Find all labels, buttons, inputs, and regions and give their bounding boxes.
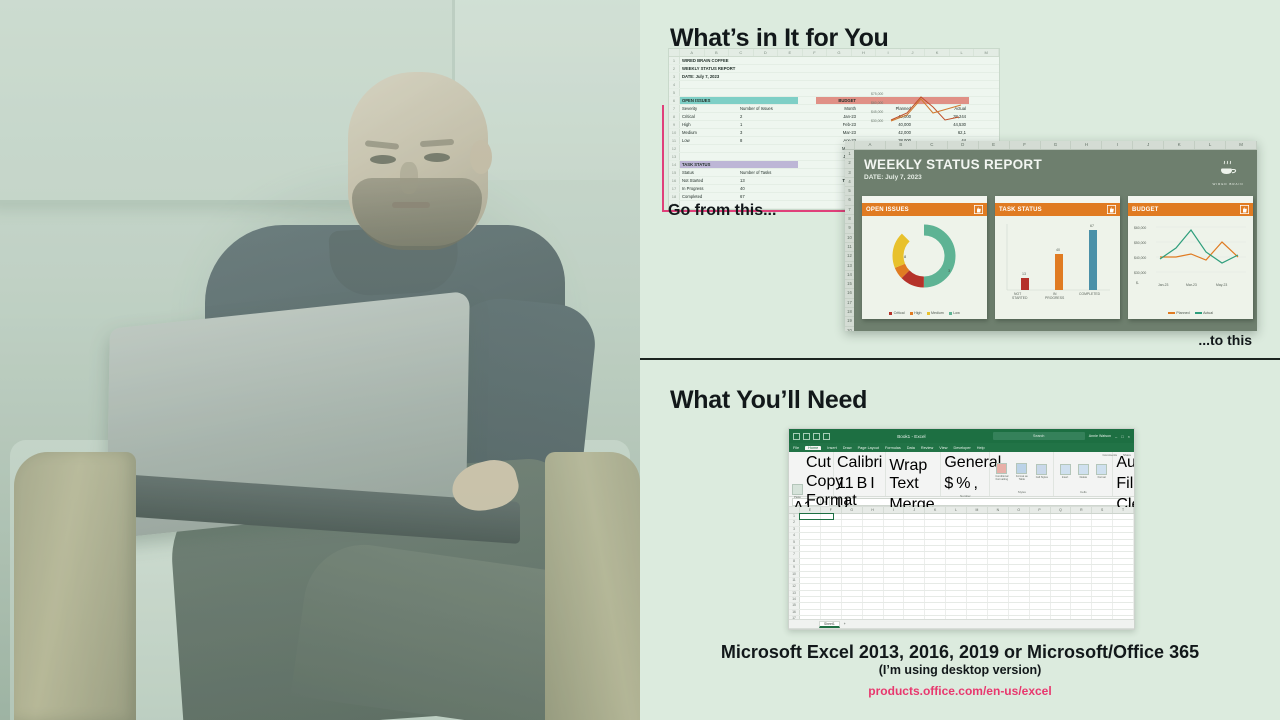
grid-cell[interactable] [946,616,967,619]
grid-cell[interactable] [863,546,884,551]
grid-cell[interactable] [863,603,884,608]
xl-col-m[interactable]: M [967,507,988,513]
grid-cell[interactable] [1009,584,1030,589]
grid-cell[interactable] [863,533,884,538]
grid-cell[interactable] [946,591,967,596]
grid-cell[interactable] [863,565,884,570]
format-as-table-button[interactable]: Format as Table [1013,463,1030,481]
grid-cell[interactable] [1113,603,1134,608]
grid-cell[interactable] [925,552,946,557]
grid-cell[interactable] [1009,533,1030,538]
grid-cell[interactable] [967,584,988,589]
grid-cell[interactable] [904,514,925,519]
grid-cell[interactable] [1051,559,1072,564]
fill-button[interactable]: Fill [1116,475,1135,493]
grid-cell[interactable] [863,610,884,615]
grid-cell[interactable] [1030,578,1051,583]
grid-cell[interactable] [967,552,988,557]
grid-cell[interactable] [884,565,905,570]
grid-cell[interactable] [988,546,1009,551]
grid-cell[interactable] [1071,520,1092,525]
tab-draw[interactable]: Draw [843,446,852,450]
quick-access-toolbar[interactable] [793,433,830,440]
grid-cell[interactable] [904,584,925,589]
grid-cell[interactable] [988,514,1009,519]
row-header[interactable]: 10 [789,572,800,577]
grid-cell[interactable] [884,603,905,608]
grid-cell[interactable] [946,527,967,532]
grid-cell[interactable] [925,540,946,545]
grid-cell[interactable] [884,572,905,577]
grid-cell[interactable] [1051,603,1072,608]
grid-cell[interactable] [800,616,821,619]
grid-cell[interactable] [821,520,842,525]
tab-file[interactable]: File [793,446,799,450]
tab-view[interactable]: View [939,446,947,450]
grid-cell[interactable] [1030,584,1051,589]
grid-cell[interactable] [1051,584,1072,589]
tab-review[interactable]: Review [921,446,933,450]
grid-cell[interactable] [988,520,1009,525]
grid-cell[interactable] [1113,610,1134,615]
grid-cell[interactable] [1009,552,1030,557]
grid-cell[interactable] [1009,572,1030,577]
grid-cell[interactable] [904,603,925,608]
grid-cell[interactable] [821,546,842,551]
grid-cell[interactable] [884,559,905,564]
grid-rows[interactable]: 123456789101112131415161718192021 [789,514,1134,619]
grid-cell[interactable] [1009,591,1030,596]
close-icon[interactable]: × [1128,434,1130,439]
grid-cell[interactable] [1092,520,1113,525]
grid-cell[interactable] [1071,546,1092,551]
row-header[interactable]: 3 [789,527,800,532]
ribbon-tabs[interactable]: File Home Insert Draw Page Layout Formul… [789,443,1134,452]
grid-cell[interactable] [988,584,1009,589]
tab-page-layout[interactable]: Page Layout [858,446,879,450]
grid-cell[interactable] [1030,597,1051,602]
row-header[interactable]: 2 [789,520,800,525]
grid-cell[interactable] [842,584,863,589]
grid-cell[interactable] [800,603,821,608]
grid-cell[interactable] [1113,578,1134,583]
search-input[interactable]: Search [993,432,1085,440]
grid-cell[interactable] [988,603,1009,608]
grid-cell[interactable] [967,616,988,619]
percent-button[interactable]: % [956,475,970,493]
grid-cell[interactable] [925,533,946,538]
grid-cell[interactable] [1009,540,1030,545]
grid-cell[interactable] [800,578,821,583]
grid-cell[interactable] [988,540,1009,545]
grid-cell[interactable] [1030,533,1051,538]
grid-cell[interactable] [1071,533,1092,538]
grid-cell[interactable] [842,578,863,583]
grid-cell[interactable] [1051,572,1072,577]
grid-cell[interactable] [821,540,842,545]
row-header[interactable]: 4 [789,533,800,538]
excel-product-url[interactable]: products.office.com/en-us/excel [640,684,1280,698]
sheet-tab-sheet1[interactable]: Sheet1 [819,621,840,628]
grid-cell[interactable] [863,616,884,619]
grid-cell[interactable] [925,578,946,583]
grid-cell[interactable] [842,527,863,532]
grid-cell[interactable] [821,533,842,538]
grid-cell[interactable] [904,610,925,615]
grid-cell[interactable] [863,552,884,557]
grid-column-headers[interactable]: EF GH IJ KL MN OP QR ST [789,507,1134,514]
grid-cell[interactable] [842,514,863,519]
grid-cell[interactable] [800,572,821,577]
grid-cell[interactable] [1113,591,1134,596]
grid-cell[interactable] [925,597,946,602]
grid-cell[interactable] [988,597,1009,602]
redo-icon[interactable] [813,433,820,440]
grid-cell[interactable] [1030,540,1051,545]
grid-cell[interactable] [821,616,842,619]
grid-cell[interactable] [1071,578,1092,583]
tab-insert[interactable]: Insert [827,446,837,450]
grid-cell[interactable] [821,552,842,557]
window-controls[interactable]: – □ × [1115,434,1130,439]
cell-styles-button[interactable]: Cell Styles [1033,464,1050,479]
grid-cell[interactable] [800,527,821,532]
grid-cell[interactable] [967,533,988,538]
grid-cell[interactable] [1051,597,1072,602]
currency-button[interactable]: $ [944,475,953,493]
grid-cell[interactable] [800,546,821,551]
grid-cell[interactable] [946,584,967,589]
grid-cell[interactable] [842,597,863,602]
grid-cell[interactable] [1009,578,1030,583]
undo-icon[interactable] [803,433,810,440]
xl-col-h[interactable]: H [863,507,884,513]
xl-col-g[interactable]: G [842,507,863,513]
grid-cell[interactable] [946,565,967,570]
thumbs-up-icon[interactable] [1107,205,1116,214]
grid-cell[interactable] [1113,584,1134,589]
xl-col-l[interactable]: L [946,507,967,513]
row-header[interactable]: 7 [789,552,800,557]
xl-col-t[interactable]: T [1113,507,1134,513]
grid-cell[interactable] [925,591,946,596]
grid-cell[interactable] [800,591,821,596]
grid-cell[interactable] [967,527,988,532]
grid-cell[interactable] [946,603,967,608]
grid-cell[interactable] [1030,552,1051,557]
grid-cell[interactable] [946,533,967,538]
grid-cell[interactable] [1071,514,1092,519]
grid-cell[interactable] [1071,540,1092,545]
add-sheet-button[interactable]: + [844,622,846,626]
conditional-formatting-button[interactable]: Conditional Formatting [993,463,1010,481]
grid-cell[interactable] [842,540,863,545]
grid-cell[interactable] [904,540,925,545]
grid-cell[interactable] [1071,603,1092,608]
thumbs-up-icon[interactable] [1240,205,1249,214]
grid-cell[interactable] [863,527,884,532]
grid-cell[interactable] [1051,527,1072,532]
grid-cell[interactable] [988,616,1009,619]
xl-col-k[interactable]: K [925,507,946,513]
grid-cell[interactable] [1009,603,1030,608]
grid-cell[interactable] [821,584,842,589]
grid-cell[interactable] [863,597,884,602]
grid-cell[interactable] [800,610,821,615]
grid-cell[interactable] [967,572,988,577]
grid-cell[interactable] [1092,546,1113,551]
grid-cell[interactable] [904,572,925,577]
account-label[interactable]: Annie Watson [1089,434,1111,438]
ribbon-group-clipboard[interactable]: Paste Cut Copy Format Painter Clipboard [789,452,834,496]
row-header[interactable]: 12 [789,584,800,589]
grid-cell[interactable] [1092,591,1113,596]
grid-cell[interactable] [1092,578,1113,583]
grid-cell[interactable] [1030,610,1051,615]
grid-cell[interactable] [1009,610,1030,615]
grid-cell[interactable] [1092,603,1113,608]
ribbon-group-styles[interactable]: Conditional Formatting Format as Table C… [990,452,1054,496]
grid-cell[interactable] [946,559,967,564]
grid-cell[interactable] [1071,610,1092,615]
grid-cell[interactable] [863,572,884,577]
grid-cell[interactable] [1113,520,1134,525]
grid-cell[interactable] [967,559,988,564]
wrap-text-button[interactable]: Wrap Text [889,457,937,493]
grid-cell[interactable] [904,520,925,525]
row-header[interactable]: 5 [789,540,800,545]
grid-cell[interactable] [1030,514,1051,519]
grid-cell[interactable] [925,584,946,589]
row-header[interactable]: 15 [789,603,800,608]
comma-button[interactable]: , [974,475,978,493]
thumbs-up-icon[interactable] [974,205,983,214]
grid-cell[interactable] [1009,546,1030,551]
grid-cell[interactable] [1092,540,1113,545]
grid-cell[interactable] [821,578,842,583]
grid-cell[interactable] [988,533,1009,538]
grid-cell[interactable] [1071,591,1092,596]
grid-cell[interactable] [1071,597,1092,602]
ribbon-group-editing[interactable]: AutoSum Fill Clear Sort & Filter Find & … [1113,452,1135,496]
grid-cell[interactable] [967,546,988,551]
grid-cell[interactable] [904,591,925,596]
maximize-icon[interactable]: □ [1121,434,1123,439]
tab-formulas[interactable]: Formulas [885,446,901,450]
grid-cell[interactable] [1051,610,1072,615]
grid-cell[interactable] [842,520,863,525]
grid-cell[interactable] [967,520,988,525]
grid-cell[interactable] [884,546,905,551]
grid-cell[interactable] [925,546,946,551]
grid-cell[interactable] [904,559,925,564]
grid-cell[interactable] [842,572,863,577]
row-header[interactable]: 17 [789,616,800,619]
grid-cell[interactable] [884,578,905,583]
grid-row[interactable]: 17 [789,616,1134,619]
grid-cell[interactable] [988,591,1009,596]
grid-cell[interactable] [842,565,863,570]
grid-cell[interactable] [1030,520,1051,525]
grid-cell[interactable] [925,610,946,615]
grid-cell[interactable] [967,540,988,545]
grid-cell[interactable] [988,565,1009,570]
save-icon[interactable] [793,433,800,440]
minimize-icon[interactable]: – [1115,434,1117,439]
grid-cell[interactable] [1092,616,1113,619]
italic-button[interactable]: I [870,475,874,493]
grid-cell[interactable] [925,603,946,608]
grid-cell[interactable] [1113,616,1134,619]
xl-col-o[interactable]: O [1009,507,1030,513]
grid-cell[interactable] [988,559,1009,564]
grid-cell[interactable] [1030,559,1051,564]
grid-cell[interactable] [1051,546,1072,551]
grid-cell[interactable] [1113,533,1134,538]
grid-cell[interactable] [1071,584,1092,589]
grid-cell[interactable] [821,591,842,596]
grid-cell[interactable] [946,597,967,602]
grid-cell[interactable] [884,527,905,532]
grid-cell[interactable] [1030,572,1051,577]
grid-cell[interactable] [1092,565,1113,570]
grid-cell[interactable] [1030,565,1051,570]
grid-cell[interactable] [1092,514,1113,519]
grid-cell[interactable] [967,603,988,608]
grid-cell[interactable] [821,527,842,532]
grid-cell[interactable] [842,603,863,608]
grid-cell[interactable] [967,578,988,583]
grid-cell[interactable] [842,616,863,619]
row-header[interactable]: 8 [789,559,800,564]
grid-cell[interactable] [1030,546,1051,551]
grid-cell[interactable] [1071,565,1092,570]
grid-cell[interactable] [1071,572,1092,577]
grid-cell[interactable] [1113,565,1134,570]
grid-cell[interactable] [925,559,946,564]
grid-cell[interactable] [925,616,946,619]
grid-cell[interactable] [1071,527,1092,532]
grid-cell[interactable] [925,572,946,577]
grid-cell[interactable] [904,533,925,538]
grid-cell[interactable] [884,610,905,615]
grid-cell[interactable] [1030,591,1051,596]
grid-cell[interactable] [1092,559,1113,564]
row-header[interactable]: 14 [789,597,800,602]
grid-cell[interactable] [925,565,946,570]
grid-cell[interactable] [1009,520,1030,525]
grid-cell[interactable] [988,578,1009,583]
grid-cell[interactable] [1092,610,1113,615]
row-header[interactable]: 9 [789,565,800,570]
row-header[interactable]: 16 [789,610,800,615]
xl-col-q[interactable]: Q [1051,507,1072,513]
tab-home[interactable]: Home [805,446,821,450]
worksheet-grid[interactable]: EF GH IJ KL MN OP QR ST 1234567891011121… [789,507,1134,619]
ribbon-group-cells[interactable]: Insert Delete Format Cells [1054,452,1113,496]
grid-cell[interactable] [884,552,905,557]
grid-cell[interactable] [1009,514,1030,519]
tab-developer[interactable]: Developer [953,446,970,450]
grid-cell[interactable] [904,546,925,551]
share-button[interactable]: Share [1123,453,1131,457]
grid-cell[interactable] [904,597,925,602]
grid-cell[interactable] [1009,527,1030,532]
xl-col-i[interactable]: I [884,507,905,513]
grid-cell[interactable] [842,546,863,551]
grid-cell[interactable] [1009,616,1030,619]
grid-cell[interactable] [800,533,821,538]
format-cells-button[interactable]: Format [1094,464,1109,479]
grid-cell[interactable] [904,578,925,583]
grid-cell[interactable] [821,559,842,564]
grid-cell[interactable] [1113,514,1134,519]
grid-cell[interactable] [904,552,925,557]
grid-cell[interactable] [1051,616,1072,619]
grid-cell[interactable] [863,514,884,519]
grid-cell[interactable] [904,565,925,570]
grid-cell[interactable] [988,572,1009,577]
grid-cell[interactable] [925,527,946,532]
grid-cell[interactable] [1092,597,1113,602]
grid-cell[interactable] [842,552,863,557]
ribbon-group-number[interactable]: General $ % , Number [941,452,990,496]
grid-cell[interactable] [967,597,988,602]
grid-cell[interactable] [946,520,967,525]
grid-cell[interactable] [1009,597,1030,602]
row-header[interactable]: 13 [789,591,800,596]
grid-cell[interactable] [1009,559,1030,564]
xl-col-s[interactable]: S [1092,507,1113,513]
comments-button[interactable]: Comments [1102,453,1117,457]
grid-cell[interactable] [988,552,1009,557]
grid-cell[interactable] [1113,597,1134,602]
insert-cells-button[interactable]: Insert [1057,464,1072,479]
grid-cell[interactable] [821,610,842,615]
grid-cell[interactable] [1113,552,1134,557]
ribbon-group-font[interactable]: Calibri 11 B I U Font [834,452,886,496]
grid-cell[interactable] [884,533,905,538]
grid-cell[interactable] [904,527,925,532]
grid-cell[interactable] [967,514,988,519]
grid-cell[interactable] [863,559,884,564]
grid-cell[interactable] [863,520,884,525]
grid-cell[interactable] [821,565,842,570]
grid-cell[interactable] [863,591,884,596]
grid-cell[interactable] [1092,527,1113,532]
grid-cell[interactable] [1051,565,1072,570]
grid-cell[interactable] [1092,552,1113,557]
grid-cell[interactable] [946,578,967,583]
grid-cell[interactable] [884,520,905,525]
active-cell-selection[interactable] [799,513,834,520]
grid-cell[interactable] [863,578,884,583]
grid-cell[interactable] [884,540,905,545]
grid-cell[interactable] [1009,565,1030,570]
bold-button[interactable]: B [857,475,868,493]
paste-button[interactable]: Paste [792,484,803,499]
ribbon[interactable]: Paste Cut Copy Format Painter Clipboard … [789,452,1134,497]
grid-cell[interactable] [863,540,884,545]
grid-cell[interactable] [925,514,946,519]
grid-cell[interactable] [1071,616,1092,619]
grid-cell[interactable] [884,591,905,596]
grid-cell[interactable] [946,546,967,551]
autosave-icon[interactable] [823,433,830,440]
xl-col-j[interactable]: J [904,507,925,513]
grid-cell[interactable] [1092,572,1113,577]
grid-cell[interactable] [1113,546,1134,551]
